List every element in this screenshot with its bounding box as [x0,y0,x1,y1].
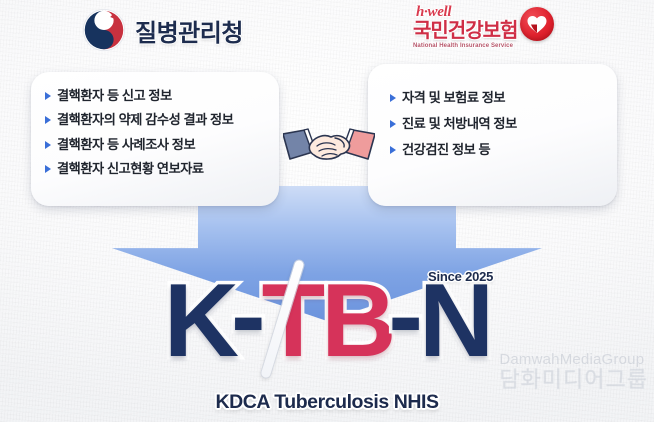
list-item-label: 결핵환자 신고현황 연보자료 [57,161,204,177]
list-item-label: 자격 및 보험료 정보 [402,90,505,106]
infographic-canvas: 질병관리청 h·well 국민건강보험 National Health Insu… [0,0,654,422]
list-item: 결핵환자 등 신고 정보 [45,88,269,104]
list-item-label: 결핵환자 등 사례조사 정보 [57,137,195,153]
since-year-badge: Since 2025 [423,268,498,285]
wordmark-dash-2: - [388,257,423,376]
list-item-label: 결핵환자의 약제 감수성 결과 정보 [57,112,233,128]
list-item: 진료 및 처방내역 정보 [390,116,607,132]
list-item: 자격 및 보험료 정보 [390,90,607,106]
wordmark-letter-n: N [419,274,490,370]
kdca-name-label: 질병관리청 [135,13,243,48]
heart-in-circle-icon [520,7,554,41]
nhis-english-name-label: National Health Insurance Service [413,43,513,49]
list-item-label: 결핵환자 등 신고 정보 [57,88,172,104]
triangle-bullet-icon [45,92,51,100]
korean-government-taegeuk-emblem-icon [82,8,126,52]
nhis-brand-label: h·well [416,5,451,20]
wordmark-tb-group: TB [262,274,393,370]
nhis-data-card: 자격 및 보험료 정보 진료 및 처방내역 정보 건강검진 정보 등 [368,64,617,206]
triangle-bullet-icon [390,94,396,102]
triangle-bullet-icon [390,120,396,128]
list-item-label: 건강검진 정보 등 [402,142,490,158]
list-item: 결핵환자 등 사례조사 정보 [45,137,269,153]
wordmark-letter-k: K [164,274,235,370]
ktbn-wordmark: K - TB - N [0,262,654,382]
kdca-data-list: 결핵환자 등 신고 정보 결핵환자의 약제 감수성 결과 정보 결핵환자 등 사… [45,88,269,177]
list-item: 결핵환자의 약제 감수성 결과 정보 [45,112,269,128]
nhis-text-block: h·well 국민건강보험 National Health Insurance … [413,5,517,49]
wordmark-letter-b: B [321,274,392,370]
triangle-bullet-icon [390,146,396,154]
list-item-label: 진료 및 처방내역 정보 [402,116,517,132]
kdca-logo: 질병관리청 [82,8,243,52]
triangle-bullet-icon [45,116,51,124]
wordmark-dash-1: - [231,257,266,376]
handshake-icon [283,118,375,172]
triangle-bullet-icon [45,141,51,149]
nhis-korean-name-label: 국민건강보험 [413,21,517,41]
nhis-logo: h·well 국민건강보험 National Health Insurance … [413,5,554,49]
nhis-data-list: 자격 및 보험료 정보 진료 및 처방내역 정보 건강검진 정보 등 [390,90,607,158]
list-item: 건강검진 정보 등 [390,142,607,158]
triangle-bullet-icon [45,165,51,173]
wordmark-subtitle: KDCA Tuberculosis NHIS [0,391,654,414]
list-item: 결핵환자 신고현황 연보자료 [45,161,269,177]
organization-logo-row: 질병관리청 h·well 국민건강보험 National Health Insu… [0,0,654,62]
kdca-data-card: 결핵환자 등 신고 정보 결핵환자의 약제 감수성 결과 정보 결핵환자 등 사… [31,72,279,206]
